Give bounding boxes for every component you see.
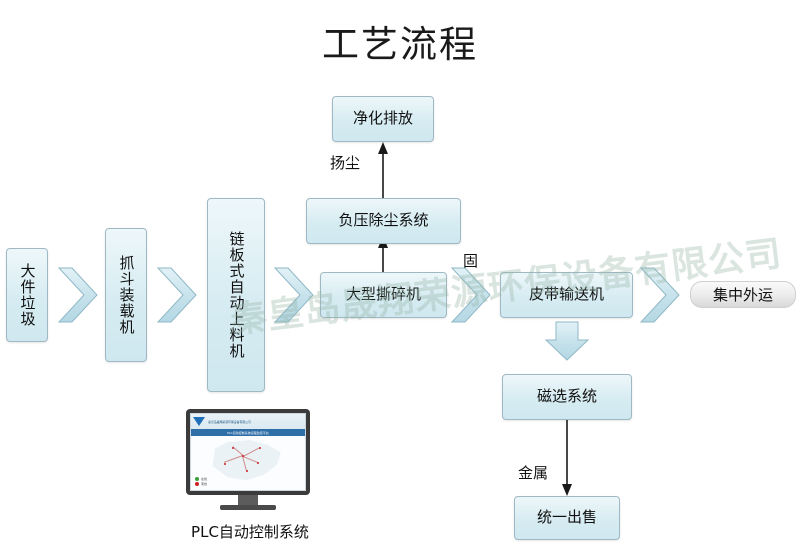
node-grab-loader-label: 抓斗装载机 [119,255,134,335]
screen-legend: 在线 离线 [195,477,207,487]
node-belt-conveyor-label: 皮带输送机 [529,286,604,303]
plc-monitor: 秦皇岛晟翔荣源环保设备有限公司 PLC自动控制系统远程监控平台 [186,409,310,515]
screen-title-bar: PLC自动控制系统远程监控平台 [191,429,305,436]
edge-label-metal: 金属 [518,462,548,483]
company-logo-icon [193,417,205,426]
node-dust-system[interactable]: 负压除尘系统 [306,198,461,244]
node-magnetic-separation[interactable]: 磁选系统 [502,374,632,420]
map-graphic [209,440,283,482]
monitor-frame: 秦皇岛晟翔荣源环保设备有限公司 PLC自动控制系统远程监控平台 [186,409,310,495]
chevron-feeder-to-shredder [275,268,313,322]
screen-header: 秦皇岛晟翔荣源环保设备有限公司 [191,414,305,429]
monitor-stand [220,505,276,510]
arrowhead-magnetic-to-sale [562,484,572,496]
node-chain-plate-feeder[interactable]: 链板式自动上料机 [207,198,265,392]
node-belt-conveyor[interactable]: 皮带输送机 [500,272,633,318]
node-shredder-label: 大型撕碎机 [346,286,421,303]
legend-offline-label: 离线 [201,482,207,486]
arrowhead-dust-to-purify [378,142,388,154]
monitor-neck [238,495,258,505]
map-node-dot [224,463,226,465]
map-node-dot [246,470,248,472]
screen-company-name: 秦皇岛晟翔荣源环保设备有限公司 [208,420,251,424]
map-node-dot [257,462,259,464]
node-chain-plate-feeder-label: 链板式自动上料机 [229,231,244,359]
node-unified-sale[interactable]: 统一出售 [514,496,620,540]
node-bulky-waste[interactable]: 大件垃圾 [6,248,48,342]
chevron-shredder-to-belt [452,268,490,322]
node-purify-emission[interactable]: 净化排放 [332,96,434,142]
node-grab-loader[interactable]: 抓斗装载机 [105,228,147,362]
map-node-dot [232,447,234,449]
monitor-screen[interactable]: 秦皇岛晟翔荣源环保设备有限公司 PLC自动控制系统远程监控平台 [190,413,306,491]
node-central-transport-label: 集中外运 [713,284,773,305]
node-unified-sale-label: 统一出售 [537,509,597,526]
chevron-waste-to-loader [59,268,97,322]
map-node-dot [259,447,261,449]
block-arrow-belt-to-magnetic [546,322,588,360]
node-purify-emission-label: 净化排放 [353,110,413,127]
edge-label-dust: 扬尘 [330,152,360,173]
legend-online-label: 在线 [201,477,207,481]
chevron-loader-to-feeder [158,268,196,322]
screen-body: 在线 离线 [191,436,305,490]
edge-label-solid: 固 [463,250,478,271]
process-flow-diagram: 工艺流程 大件垃圾 抓斗装载机 [0,0,800,558]
node-dust-system-label: 负压除尘系统 [338,212,428,229]
node-shredder[interactable]: 大型撕碎机 [320,272,447,318]
page-title: 工艺流程 [0,14,800,68]
node-magnetic-separation-label: 磁选系统 [537,388,597,405]
node-central-transport[interactable]: 集中外运 [690,281,796,308]
chevron-belt-to-transport [641,268,679,322]
map-node-dot [242,455,244,457]
node-bulky-waste-label: 大件垃圾 [20,263,35,327]
plc-caption: PLC自动控制系统 [150,521,350,542]
